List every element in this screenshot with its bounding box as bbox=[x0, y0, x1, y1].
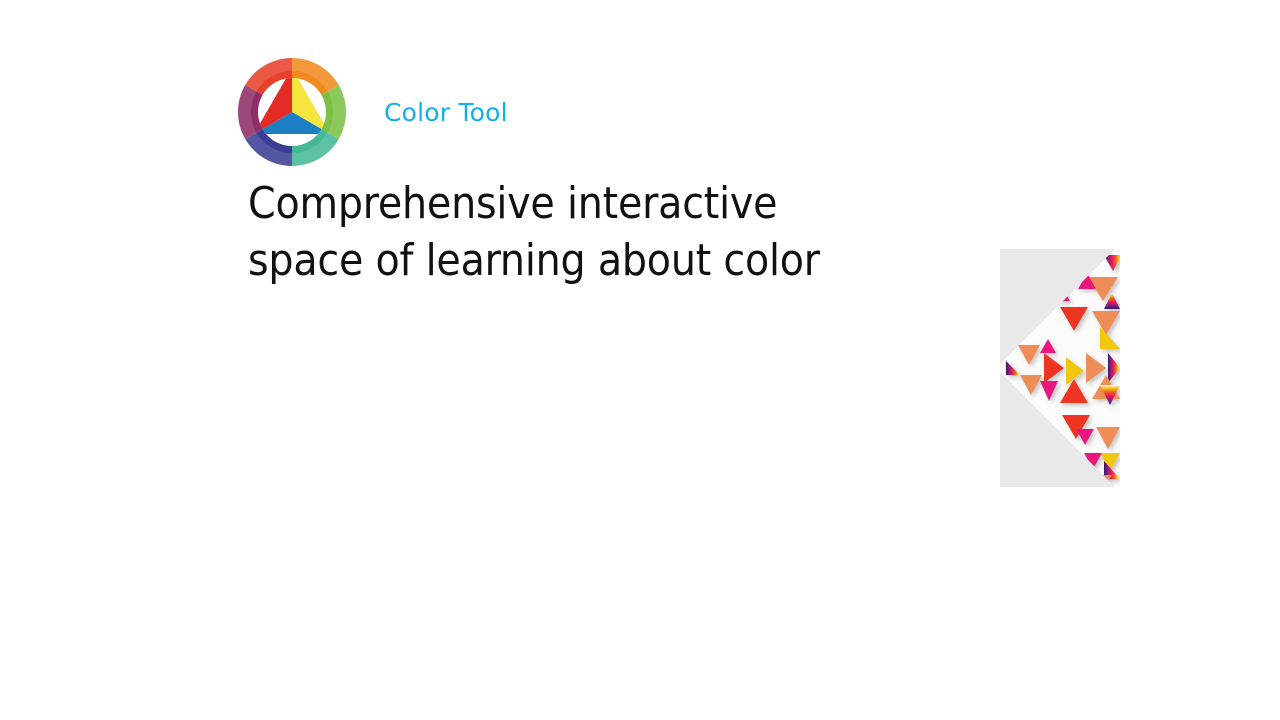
page-title: Comprehensive interactive space of learn… bbox=[248, 175, 948, 289]
color-wheel-icon bbox=[238, 58, 346, 166]
brand-lockup[interactable]: Color Tool bbox=[238, 58, 508, 166]
brand-name-label: Color Tool bbox=[384, 100, 508, 125]
slide-canvas: Color Tool Comprehensive interactive spa… bbox=[0, 0, 1280, 720]
triangle-mosaic-image bbox=[1000, 249, 1120, 487]
page-title-line-2: space of learning about color bbox=[248, 232, 948, 289]
page-title-line-1: Comprehensive interactive bbox=[248, 175, 948, 232]
